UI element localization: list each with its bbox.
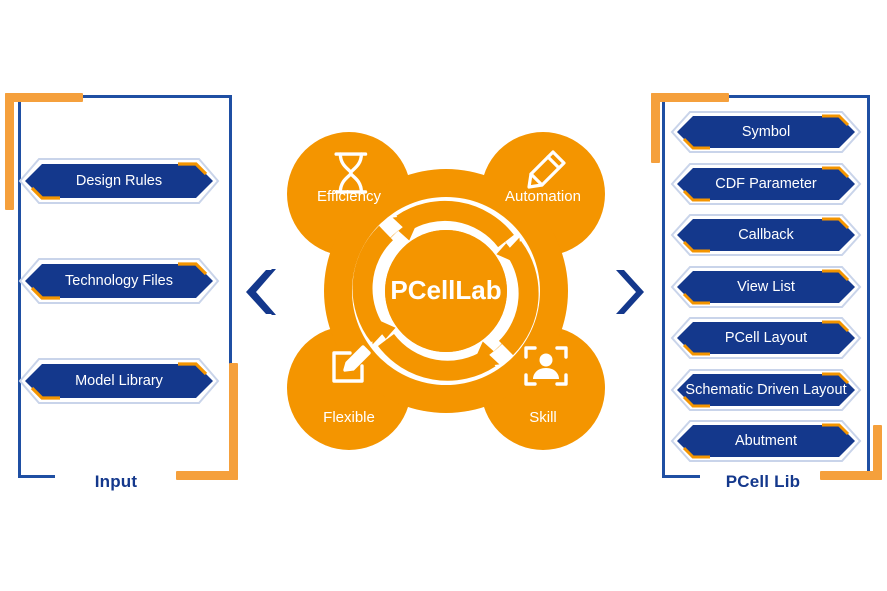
list-item[interactable]: View List bbox=[670, 265, 862, 309]
hexagon-shape bbox=[18, 257, 220, 305]
cycle-diagram bbox=[285, 128, 607, 453]
list-item[interactable]: Callback bbox=[670, 213, 862, 257]
list-item[interactable]: Model Library bbox=[18, 357, 220, 405]
list-item[interactable]: Design Rules bbox=[18, 157, 220, 205]
list-item[interactable]: PCell Layout bbox=[670, 316, 862, 360]
list-item[interactable]: Technology Files bbox=[18, 257, 220, 305]
lobe-label-flexible: Flexible bbox=[289, 409, 409, 426]
lobe-label-automation: Automation bbox=[483, 188, 603, 205]
core-circle bbox=[385, 230, 507, 352]
right-panel-caption: PCell Lib bbox=[700, 472, 826, 492]
hexagon-shape bbox=[670, 110, 862, 154]
lobe-label-skill: Skill bbox=[483, 409, 603, 426]
list-item[interactable]: CDF Parameter bbox=[670, 162, 862, 206]
left-panel-caption: Input bbox=[60, 472, 172, 492]
hexagon-shape bbox=[670, 213, 862, 257]
diagram-canvas: Input Design Rules Technology Files bbox=[0, 0, 887, 591]
hexagon-shape bbox=[670, 316, 862, 360]
chevron-right-icon bbox=[614, 269, 644, 315]
hexagon-shape bbox=[18, 157, 220, 205]
chevron-left-icon bbox=[246, 269, 276, 315]
hexagon-shape bbox=[670, 368, 862, 412]
hexagon-shape bbox=[670, 419, 862, 463]
list-item[interactable]: Schematic Driven Layout bbox=[670, 368, 862, 412]
hexagon-shape bbox=[670, 265, 862, 309]
list-item[interactable]: Abutment bbox=[670, 419, 862, 463]
hexagon-shape bbox=[18, 357, 220, 405]
hexagon-shape bbox=[670, 162, 862, 206]
lobe-label-efficiency: Efficiency bbox=[289, 188, 409, 205]
center-cycle-graphic: Efficiency Automation Flexible Skill PCe… bbox=[285, 128, 607, 453]
list-item[interactable]: Symbol bbox=[670, 110, 862, 154]
